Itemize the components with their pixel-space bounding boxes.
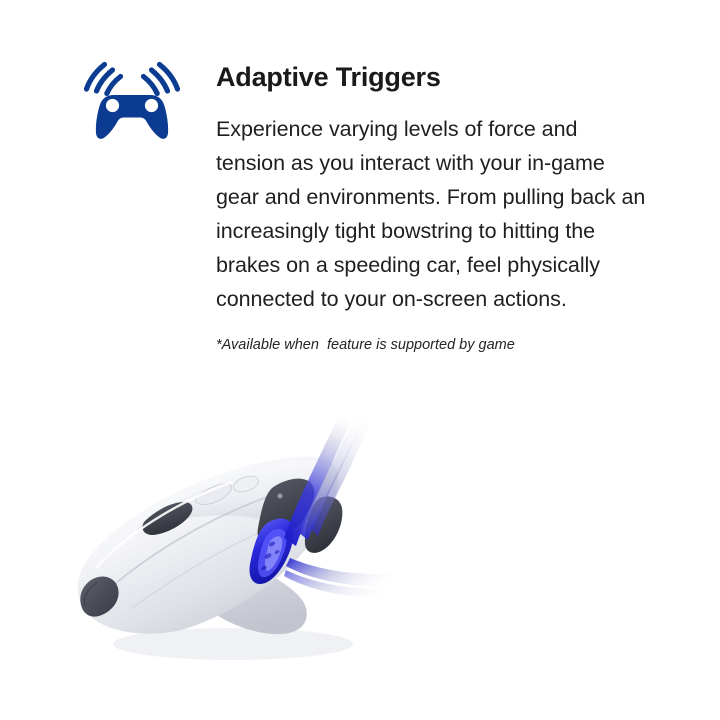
gamepad-vibration-icon (76, 58, 188, 140)
feature-text-block: Adaptive Triggers Experience varying lev… (216, 62, 646, 355)
feature-card: Adaptive Triggers Experience varying lev… (0, 0, 720, 720)
feature-description: Experience varying levels of force and t… (216, 112, 646, 316)
feature-footnote: *Available when feature is supported by … (216, 336, 646, 355)
page-title: Adaptive Triggers (216, 62, 646, 93)
controller-illustration (58, 392, 418, 682)
